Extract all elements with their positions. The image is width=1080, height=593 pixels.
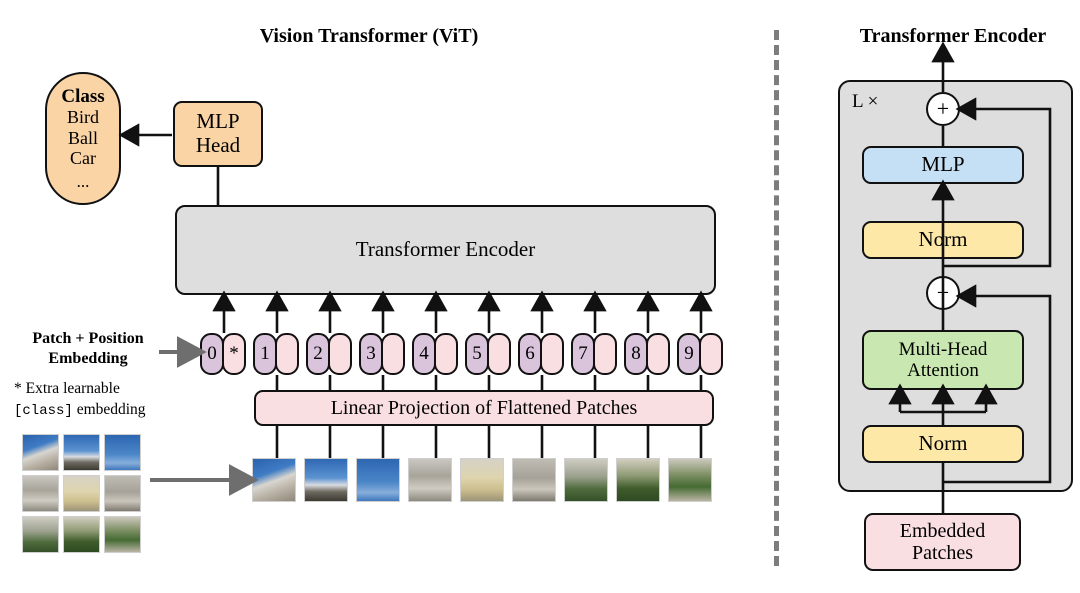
extra-learnable-footnote: * Extra learnable [class] embedding [14, 379, 179, 421]
encoder-norm-top-label: Norm [919, 228, 968, 252]
flat-patch-6 [564, 458, 608, 502]
token-group-5: 5 [465, 333, 511, 375]
position-embedding-8: 8 [624, 333, 648, 375]
flat-patch-5 [512, 458, 556, 502]
footnote-line1: * Extra learnable [14, 379, 179, 400]
token-group-0: 0 * [200, 333, 246, 375]
linear-projection-box: Linear Projection of Flattened Patches [254, 390, 714, 426]
source-patch-5 [104, 475, 141, 512]
token-group-1: 1 [253, 333, 299, 375]
encoder-attention-block: Multi-Head Attention [862, 330, 1024, 390]
mlp-head-line1: MLP [196, 110, 239, 134]
flat-patch-2 [356, 458, 400, 502]
flat-patch-7 [616, 458, 660, 502]
class-output-pill: Class Bird Ball Car ... [45, 72, 121, 205]
embedding-label-line1: Patch + Position [8, 329, 168, 349]
flat-patch-1 [304, 458, 348, 502]
position-embedding-4: 4 [412, 333, 436, 375]
source-patch-8 [104, 516, 141, 553]
class-item-0: Bird [67, 107, 99, 127]
token-group-6: 6 [518, 333, 564, 375]
encoder-mlp-block: MLP [862, 146, 1024, 184]
source-image-grid [22, 434, 141, 553]
source-patch-1 [63, 434, 100, 471]
embedded-patches-block: Embedded Patches [864, 513, 1021, 571]
patch-embedding-4 [434, 333, 458, 375]
residual-add-bottom: + [926, 276, 960, 310]
source-patch-3 [22, 475, 59, 512]
class-ellipsis: ... [77, 172, 90, 191]
token-group-2: 2 [306, 333, 352, 375]
token-group-9: 9 [677, 333, 723, 375]
residual-add-top: + [926, 92, 960, 126]
flat-patch-0 [252, 458, 296, 502]
panel-divider [774, 30, 779, 566]
encoder-mlp-label: MLP [921, 153, 964, 177]
footnote-tail: embedding [73, 401, 146, 418]
flat-patch-3 [408, 458, 452, 502]
vit-architecture-figure: Vision Transformer (ViT) Transformer Enc… [0, 0, 1080, 593]
patch-embedding-7 [593, 333, 617, 375]
position-embedding-6: 6 [518, 333, 542, 375]
encoder-attention-line2: Attention [907, 360, 979, 381]
footnote-class-token: [class] [14, 403, 73, 419]
right-panel-title: Transformer Encoder [828, 25, 1078, 48]
patch-embedding-2 [328, 333, 352, 375]
class-title: Class [61, 86, 104, 107]
token-group-3: 3 [359, 333, 405, 375]
encoder-norm-top-block: Norm [862, 221, 1024, 259]
embedded-patches-line1: Embedded [900, 520, 986, 542]
position-embedding-9: 9 [677, 333, 701, 375]
position-embedding-1: 1 [253, 333, 277, 375]
class-token-star: * [222, 333, 246, 375]
position-embedding-7: 7 [571, 333, 595, 375]
encoder-attention-line1: Multi-Head [899, 339, 988, 360]
source-patch-2 [104, 434, 141, 471]
transformer-encoder-block: Transformer Encoder [175, 205, 716, 295]
source-patch-6 [22, 516, 59, 553]
flattened-patch-strip [252, 458, 717, 506]
embedded-patches-line2: Patches [912, 542, 973, 564]
source-patch-0 [22, 434, 59, 471]
source-patch-4 [63, 475, 100, 512]
encoder-repeat-label: L × [852, 91, 878, 113]
mlp-head-box: MLP Head [173, 101, 263, 167]
position-embedding-3: 3 [359, 333, 383, 375]
encoder-norm-bottom-block: Norm [862, 425, 1024, 463]
source-patch-7 [63, 516, 100, 553]
flat-patch-4 [460, 458, 504, 502]
patch-embedding-6 [540, 333, 564, 375]
left-panel-title: Vision Transformer (ViT) [194, 25, 544, 48]
class-item-2: Car [70, 148, 96, 168]
patch-embedding-3 [381, 333, 405, 375]
patch-embedding-5 [487, 333, 511, 375]
transformer-encoder-label: Transformer Encoder [356, 238, 535, 262]
position-embedding-0: 0 [200, 333, 224, 375]
flat-patch-8 [668, 458, 712, 502]
linear-projection-label: Linear Projection of Flattened Patches [331, 397, 638, 419]
mlp-head-line2: Head [196, 134, 240, 158]
patch-embedding-1 [275, 333, 299, 375]
footnote-line2: [class] embedding [14, 400, 179, 421]
class-item-1: Ball [68, 128, 98, 148]
patch-embedding-8 [646, 333, 670, 375]
token-group-7: 7 [571, 333, 617, 375]
patch-position-embedding-label: Patch + Position Embedding [8, 329, 168, 369]
encoder-norm-bottom-label: Norm [919, 432, 968, 456]
token-group-8: 8 [624, 333, 670, 375]
residual-add-bottom-symbol: + [937, 282, 949, 304]
patch-embedding-9 [699, 333, 723, 375]
position-embedding-2: 2 [306, 333, 330, 375]
residual-add-top-symbol: + [937, 98, 949, 120]
embedding-label-line2: Embedding [8, 349, 168, 369]
token-group-4: 4 [412, 333, 458, 375]
position-embedding-5: 5 [465, 333, 489, 375]
